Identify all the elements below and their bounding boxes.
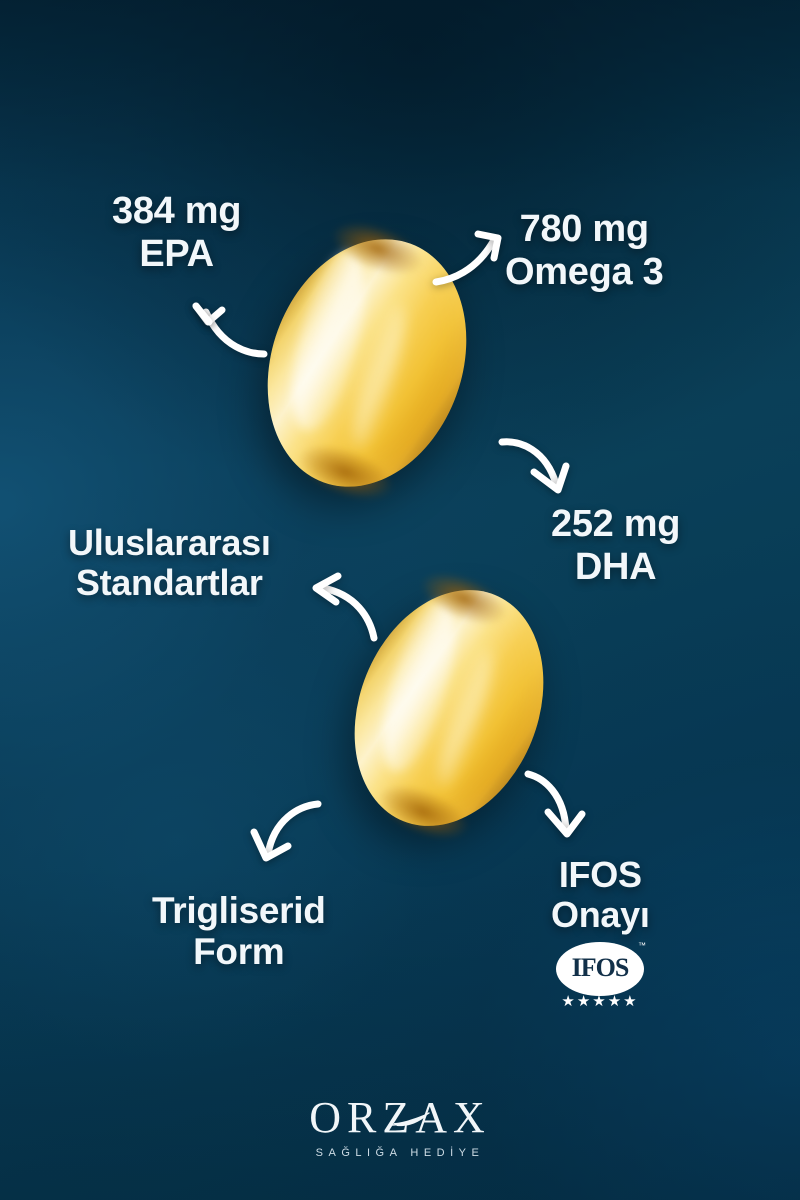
callout-trigliserid-line1: Trigliserid bbox=[152, 890, 326, 931]
brand-tagline: SAĞLIĞA HEDİYE bbox=[0, 1147, 800, 1159]
arrow-standartlar-icon bbox=[308, 574, 388, 644]
brand-logo: ORZAX SAĞLIĞA HEDİYE bbox=[0, 1096, 800, 1159]
callout-ifos-label: IFOS Onayı bbox=[551, 855, 650, 936]
callout-dha-label: 252 mg DHA bbox=[551, 503, 680, 588]
callout-omega3-line2: Omega 3 bbox=[505, 251, 663, 294]
callout-ifos-line1: IFOS bbox=[559, 854, 642, 895]
callout-omega3-line1: 780 mg bbox=[520, 208, 649, 250]
callout-ifos-line2: Onayı bbox=[551, 895, 650, 935]
callout-epa-line1: 384 mg bbox=[112, 190, 241, 232]
callout-standartlar-line2: Standartlar bbox=[68, 563, 271, 603]
ifos-certification-badge: IFOS ™ ★★★★★ bbox=[552, 942, 648, 1014]
callout-trigliserid-line2: Form bbox=[152, 931, 326, 972]
badge-trademark-icon: ™ bbox=[638, 941, 646, 950]
product-infographic-poster: 384 mg EPA 780 mg Omega 3 252 mg DHA Ulu… bbox=[0, 0, 800, 1200]
arrow-trigliserid-icon bbox=[250, 796, 328, 866]
callout-trigliserid-label: Trigliserid Form bbox=[152, 890, 326, 973]
brand-wordmark: ORZAX bbox=[309, 1096, 491, 1140]
badge-five-stars-icon: ★★★★★ bbox=[552, 994, 648, 1009]
arrow-ifos-icon bbox=[524, 768, 598, 840]
leaf-swoosh-icon bbox=[391, 1110, 431, 1128]
callout-standartlar-label: Uluslararası Standartlar bbox=[68, 523, 271, 604]
arrow-epa-icon bbox=[192, 298, 272, 362]
badge-ifos-text: IFOS bbox=[552, 953, 648, 983]
callout-omega3-label: 780 mg Omega 3 bbox=[505, 208, 663, 293]
callout-dha-line1: 252 mg bbox=[551, 503, 680, 545]
arrow-omega3-icon bbox=[432, 228, 508, 290]
arrow-dha-icon bbox=[498, 432, 574, 496]
callout-dha-line2: DHA bbox=[551, 546, 680, 589]
callout-epa-label: 384 mg EPA bbox=[112, 190, 241, 275]
callout-standartlar-line1: Uluslararası bbox=[68, 522, 271, 563]
callout-epa-line2: EPA bbox=[112, 233, 241, 276]
